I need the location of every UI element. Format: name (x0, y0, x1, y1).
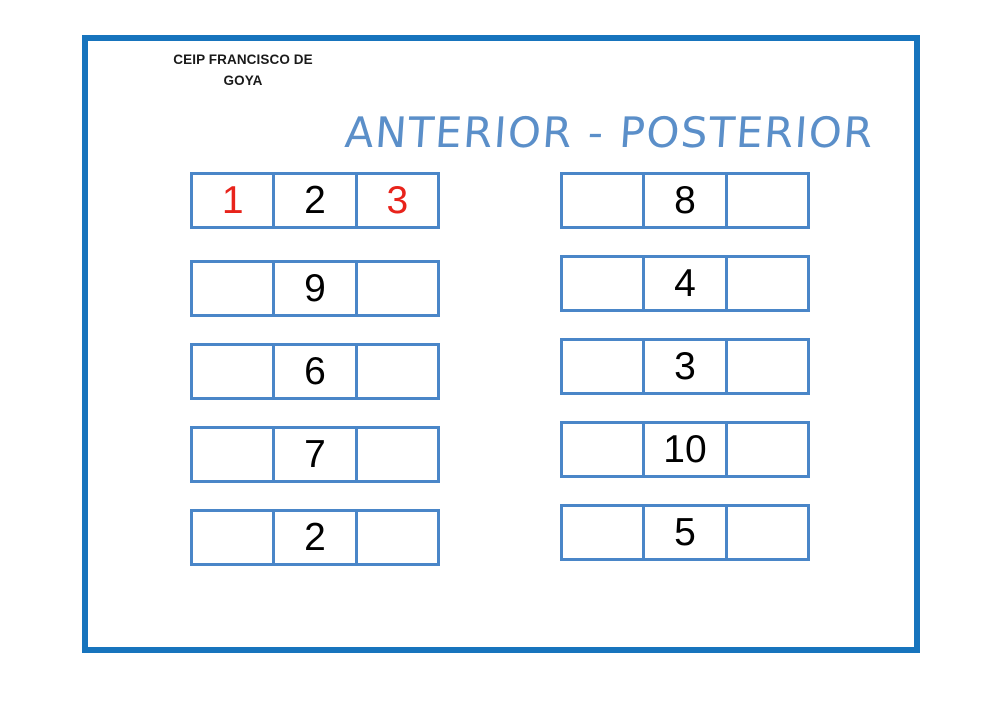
number-cell-blank[interactable] (355, 426, 440, 483)
number-strip: 6 (190, 343, 440, 400)
number-cell-blank[interactable] (560, 255, 645, 312)
number-cell-filled: 5 (642, 504, 727, 561)
number-cell-blank[interactable] (725, 338, 810, 395)
number-cell-filled: 6 (272, 343, 357, 400)
example-number-strip: 123 (190, 172, 440, 229)
number-cell-filled: 10 (642, 421, 727, 478)
number-cell-blank[interactable] (725, 172, 810, 229)
number-cell-blank[interactable] (725, 421, 810, 478)
number-strip: 9 (190, 260, 440, 317)
number-cell-filled: 1 (190, 172, 275, 229)
number-strip: 2 (190, 509, 440, 566)
number-cell-filled: 4 (642, 255, 727, 312)
number-strip: 3 (560, 338, 810, 395)
number-cell-filled: 2 (272, 509, 357, 566)
number-cell-blank[interactable] (355, 260, 440, 317)
number-cell-blank[interactable] (725, 504, 810, 561)
number-cell-blank[interactable] (560, 504, 645, 561)
number-cell-filled: 9 (272, 260, 357, 317)
number-cell-blank[interactable] (355, 509, 440, 566)
number-strip: 5 (560, 504, 810, 561)
school-name-line-2: GOYA (148, 71, 338, 92)
number-cell-blank[interactable] (190, 509, 275, 566)
number-cell-blank[interactable] (190, 426, 275, 483)
exercise-column-right: 843105 (560, 172, 810, 587)
number-cell-blank[interactable] (725, 255, 810, 312)
number-strip: 4 (560, 255, 810, 312)
number-cell-blank[interactable] (560, 172, 645, 229)
number-cell-blank[interactable] (560, 421, 645, 478)
number-cell-filled: 8 (642, 172, 727, 229)
worksheet-title: ANTERIOR - POSTERIOR (343, 108, 866, 157)
worksheet-page: CEIP FRANCISCO DE GOYA ANTERIOR - POSTER… (0, 0, 1000, 707)
school-name-line-1: CEIP FRANCISCO DE (148, 50, 338, 71)
number-cell-filled: 3 (355, 172, 440, 229)
number-cell-filled: 3 (642, 338, 727, 395)
number-strip: 8 (560, 172, 810, 229)
number-strip: 10 (560, 421, 810, 478)
number-strip: 7 (190, 426, 440, 483)
number-cell-blank[interactable] (355, 343, 440, 400)
number-cell-blank[interactable] (560, 338, 645, 395)
number-cell-filled: 7 (272, 426, 357, 483)
number-cell-blank[interactable] (190, 343, 275, 400)
exercise-column-left: 1239672 (190, 172, 440, 592)
number-cell-blank[interactable] (190, 260, 275, 317)
number-cell-filled: 2 (272, 172, 357, 229)
school-header: CEIP FRANCISCO DE GOYA (148, 50, 338, 92)
